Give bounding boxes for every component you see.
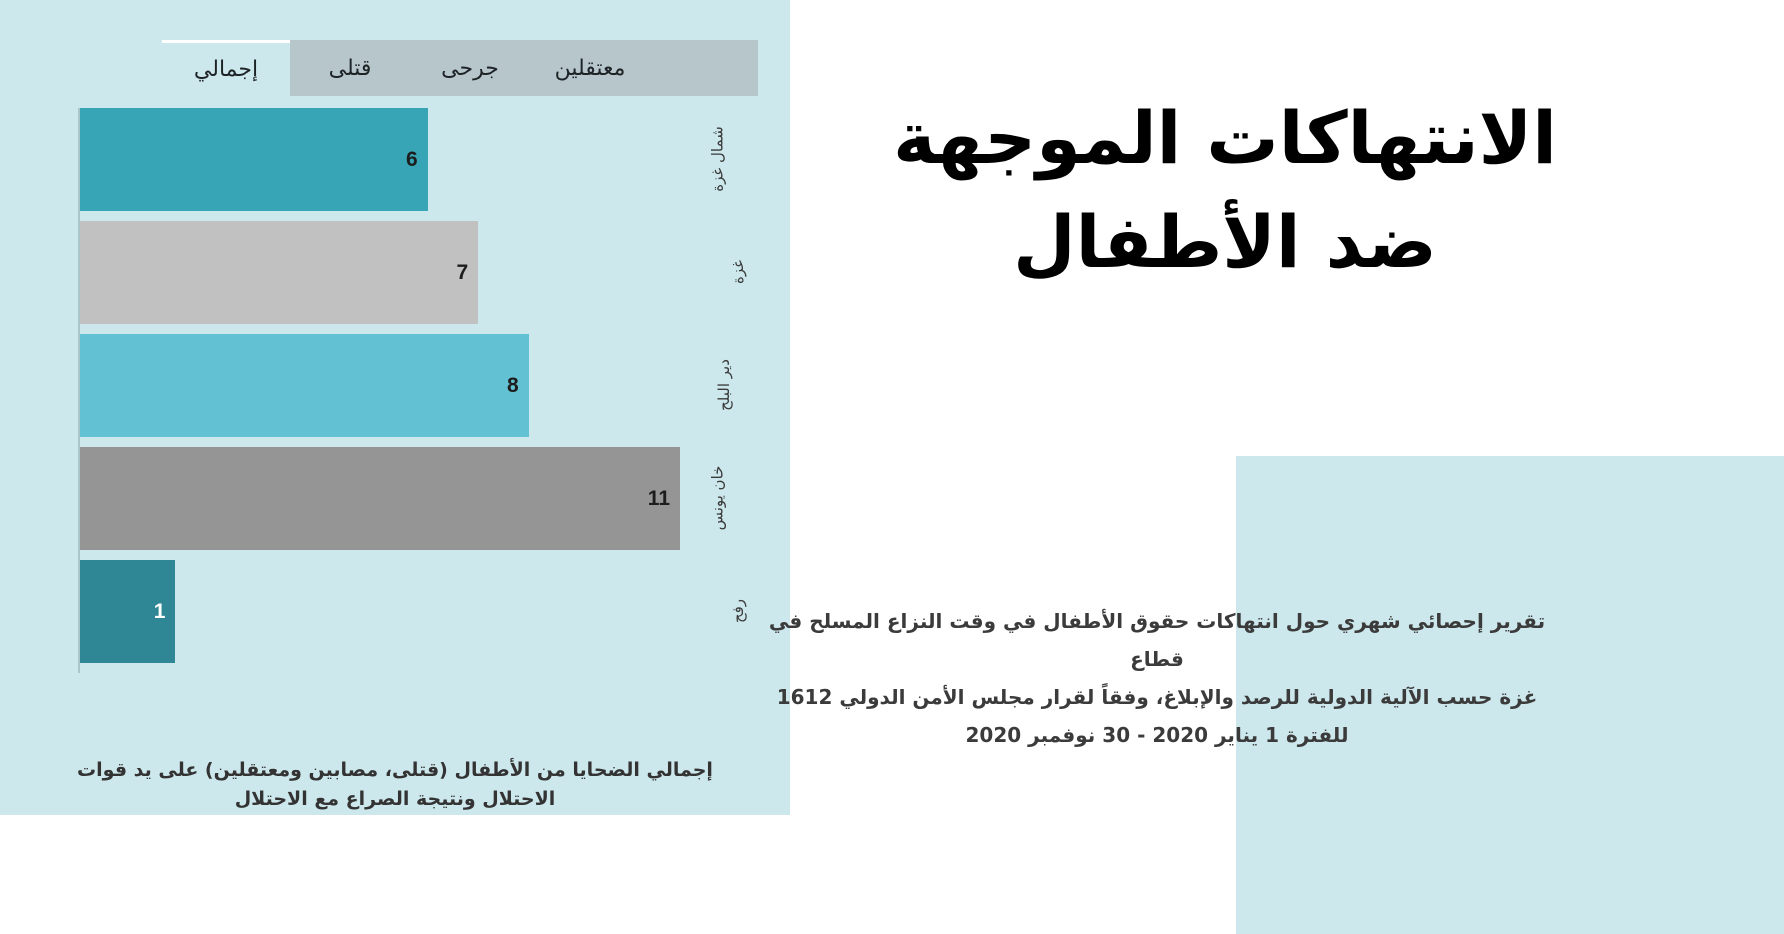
report-subtitle-line-2: غزة حسب الآلية الدولية للرصد والإبلاغ، و… xyxy=(742,678,1572,716)
tab-ijmali[interactable]: إجمالي xyxy=(162,40,290,96)
bar-5[interactable]: 1 xyxy=(80,560,175,663)
bar-1[interactable]: 6 xyxy=(80,108,428,211)
chart-widget: إجمالي قتلى جرحى معتقلين 6شمال غزة7غزة8د… xyxy=(78,40,758,700)
report-subtitle: تقرير إحصائي شهري حول انتهاكات حقوق الأط… xyxy=(742,602,1572,754)
report-subtitle-line-1: تقرير إحصائي شهري حول انتهاكات حقوق الأط… xyxy=(742,602,1572,678)
category-label: خان يونس xyxy=(709,465,727,530)
category-label: شمال غزة xyxy=(708,126,726,191)
tab-label: معتقلين xyxy=(555,56,626,81)
page-title: الانتهاكات الموجهة ضد الأطفال xyxy=(830,86,1620,295)
bar-3[interactable]: 8 xyxy=(80,334,529,437)
bar-4[interactable]: 11 xyxy=(80,447,680,550)
bar-value-label: 1 xyxy=(154,600,166,624)
tab-label: إجمالي xyxy=(194,57,258,82)
tab-label: جرحى xyxy=(441,56,499,81)
tab-qatla[interactable]: قتلى xyxy=(290,40,410,96)
bar-chart-plot-area: 6شمال غزة7غزة8دير البلح11خان يونس1رفح xyxy=(78,108,758,688)
tab-mutaqalin[interactable]: معتقلين xyxy=(530,40,650,96)
chart-caption-line-1: إجمالي الضحايا من الأطفال (قتلى، مصابين … xyxy=(0,756,790,785)
bar-value-label: 11 xyxy=(648,487,670,511)
tab-label: قتلى xyxy=(329,56,372,81)
page-title-line-2: ضد الأطفال xyxy=(830,190,1620,294)
bar-value-label: 6 xyxy=(406,148,418,172)
page-title-line-1: الانتهاكات الموجهة xyxy=(830,86,1620,190)
category-label: غزة xyxy=(729,260,747,284)
tab-jarha[interactable]: جرحى xyxy=(410,40,530,96)
chart-caption-line-2: الاحتلال ونتيجة الصراع مع الاحتلال xyxy=(0,785,790,814)
chart-tab-bar: إجمالي قتلى جرحى معتقلين xyxy=(162,40,758,96)
bar-value-label: 8 xyxy=(507,374,519,398)
bar-value-label: 7 xyxy=(456,261,468,285)
chart-caption: إجمالي الضحايا من الأطفال (قتلى، مصابين … xyxy=(0,756,790,815)
category-label: دير البلح xyxy=(715,359,733,411)
bar-2[interactable]: 7 xyxy=(80,221,478,324)
report-subtitle-line-3: للفترة 1 يناير 2020 - 30 نوفمبر 2020 xyxy=(742,716,1572,754)
